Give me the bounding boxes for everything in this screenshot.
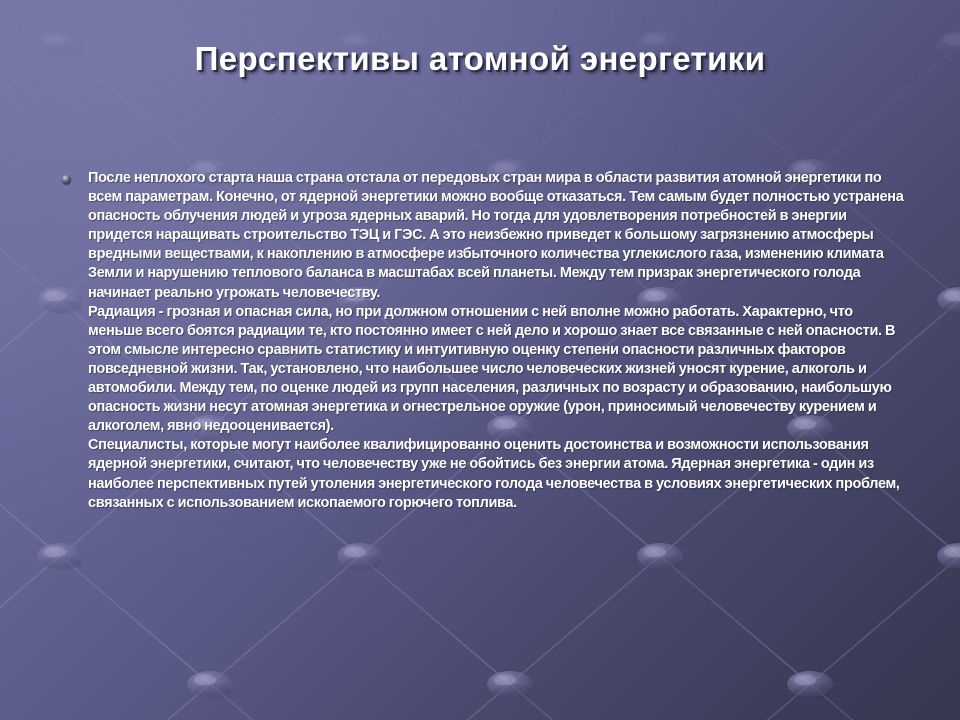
emphasized-term: Радиация <box>88 303 155 320</box>
emphasized-term: Ядерная энергетика <box>671 455 809 472</box>
body-paragraph: После неплохого старта наша страна отста… <box>88 168 904 302</box>
slide-title-block: Перспективы атомной энергетики <box>0 40 960 78</box>
body-paragraph: Специалисты, которые могут наиболее квал… <box>88 435 904 511</box>
text-run: После неплохого старта наша страна отста… <box>88 169 903 301</box>
text-run: - грозная и опасная сила, но при должном… <box>88 303 895 435</box>
body-paragraph: Радиация - грозная и опасная сила, но пр… <box>88 302 904 436</box>
body-text-content: После неплохого старта наша страна отста… <box>88 168 904 512</box>
slide-body-block: После неплохого старта наша страна отста… <box>62 168 942 512</box>
presentation-slide: Перспективы атомной энергетики После неп… <box>0 0 960 720</box>
page-title: Перспективы атомной энергетики <box>195 40 766 78</box>
bullet-list-item: После неплохого старта наша страна отста… <box>62 168 942 512</box>
sphere-bullet-icon <box>62 175 71 184</box>
